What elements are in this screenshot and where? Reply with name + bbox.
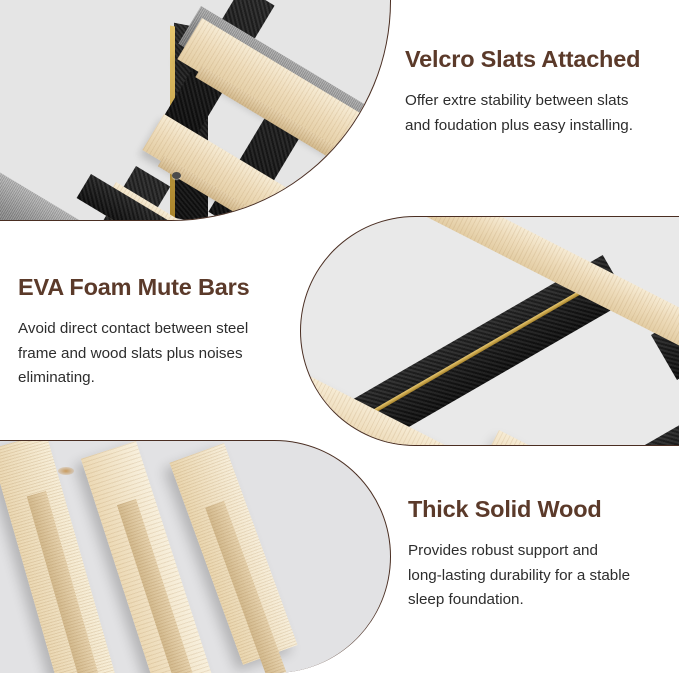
- photo-velcro-slats: [0, 0, 391, 221]
- description-solid-wood-line-2: long-lasting durability for a stable: [408, 564, 666, 589]
- photo-eva-foam-bars: [300, 216, 679, 446]
- photo-scene-velcro: [0, 0, 391, 221]
- feature-infographic: Velcro Slats Attached Offer extre stabil…: [0, 0, 679, 668]
- feature-block-eva-foam-bars: EVA Foam Mute Bars Avoid direct contact …: [18, 274, 286, 391]
- photo-thick-solid-wood: [0, 440, 391, 673]
- screw-hole: [172, 172, 181, 179]
- heading-thick-solid-wood: Thick Solid Wood: [408, 496, 666, 523]
- heading-velcro-slats: Velcro Slats Attached: [405, 46, 667, 73]
- description-eva-foam-line-2: frame and wood slats plus noises: [18, 342, 286, 367]
- heading-eva-foam-bars: EVA Foam Mute Bars: [18, 274, 286, 301]
- description-eva-foam-line-1: Avoid direct contact between steel: [18, 317, 286, 342]
- wood-knot: [58, 467, 74, 475]
- feature-block-thick-solid-wood: Thick Solid Wood Provides robust support…: [408, 496, 666, 613]
- description-velcro-slats-line-1: Offer extre stability between slats: [405, 89, 667, 114]
- description-solid-wood-line-1: Provides robust support and: [408, 539, 666, 564]
- description-velcro-slats-line-2: and foudation plus easy installing.: [405, 114, 667, 139]
- description-eva-foam-line-3: eliminating.: [18, 366, 286, 391]
- photo-scene-eva-foam: [300, 216, 679, 446]
- description-solid-wood-line-3: sleep foundation.: [408, 588, 666, 613]
- feature-block-velcro-slats: Velcro Slats Attached Offer extre stabil…: [405, 46, 667, 138]
- photo-scene-solid-wood: [0, 440, 391, 673]
